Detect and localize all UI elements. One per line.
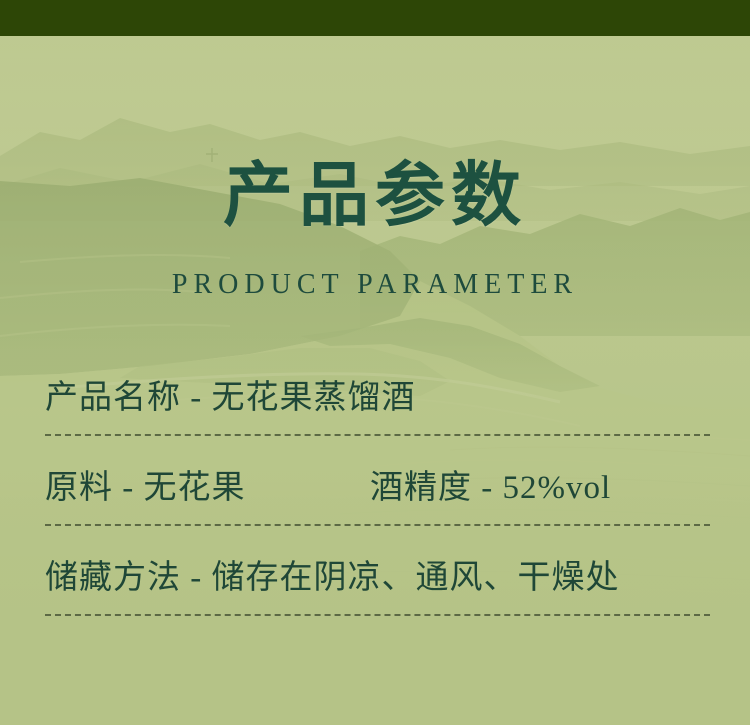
spec-alcohol-content: 酒精度 - 52%vol [370,452,611,524]
page-title: 产品参数 [0,155,750,239]
content-layer: 产品参数 PRODUCT PARAMETER 产品名称 - 无花果蒸馏酒 原料 … [0,0,750,725]
spec-divider [45,614,710,616]
spec-ingredient: 原料 - 无花果 [45,452,246,524]
top-accent-bar [0,0,750,36]
spec-list: 产品名称 - 无花果蒸馏酒 原料 - 无花果 酒精度 - 52%vol 储藏方法… [45,362,710,632]
spec-divider [45,434,710,436]
page-subtitle: PRODUCT PARAMETER [0,268,750,302]
spec-row-ingredient-alcohol: 原料 - 无花果 酒精度 - 52%vol [45,452,710,542]
spec-row-product-name: 产品名称 - 无花果蒸馏酒 [45,362,710,452]
spec-storage-method: 储藏方法 - 储存在阴凉、通风、干燥处 [45,542,620,614]
product-parameter-banner: 产品参数 PRODUCT PARAMETER 产品名称 - 无花果蒸馏酒 原料 … [0,0,750,725]
spec-product-name: 产品名称 - 无花果蒸馏酒 [45,362,416,434]
spec-row-storage-method: 储藏方法 - 储存在阴凉、通风、干燥处 [45,542,710,632]
spec-divider [45,524,710,526]
